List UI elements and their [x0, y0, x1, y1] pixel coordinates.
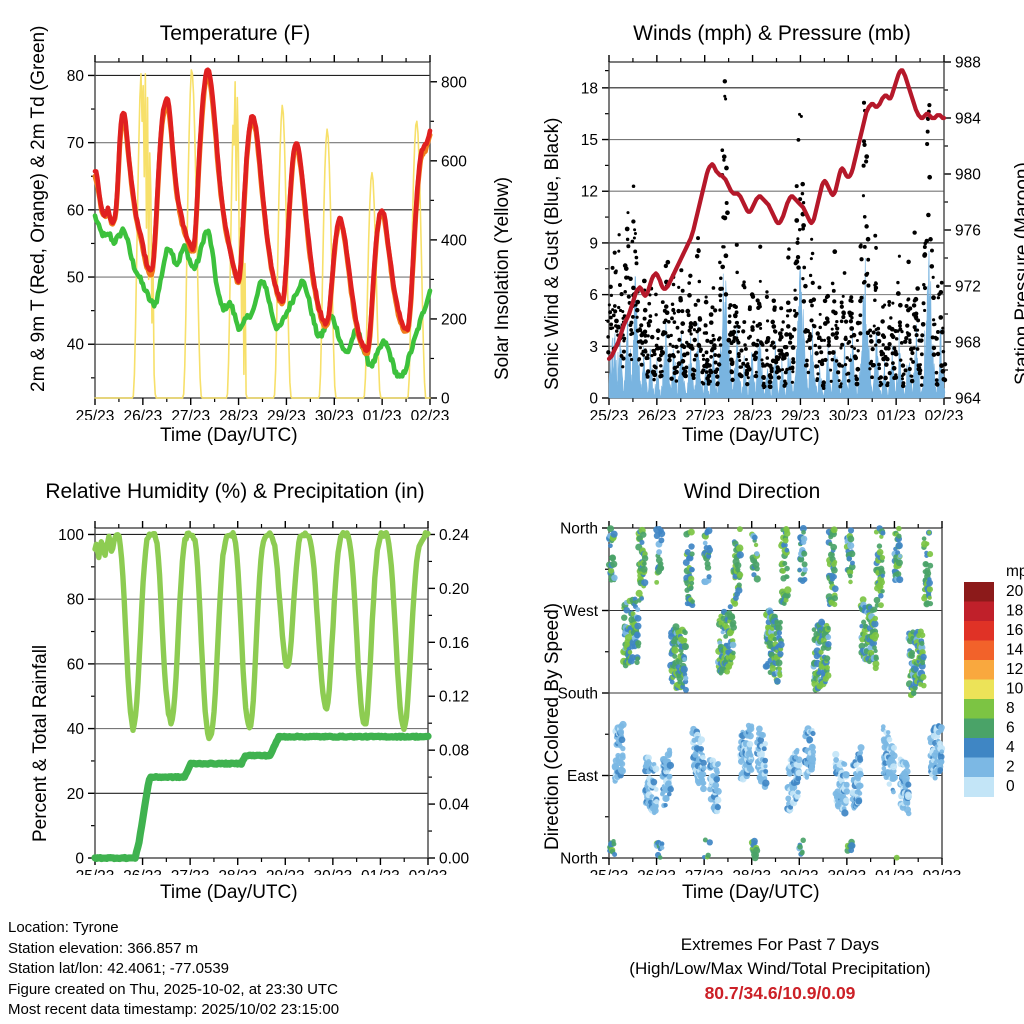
svg-text:East: East	[567, 768, 599, 785]
svg-text:South: South	[557, 686, 598, 703]
svg-text:984: 984	[955, 111, 981, 128]
svg-text:27/23: 27/23	[685, 868, 724, 875]
svg-text:20: 20	[67, 786, 85, 803]
svg-text:01/23: 01/23	[877, 408, 916, 420]
svg-text:964: 964	[955, 391, 981, 408]
extremes-block: Extremes For Past 7 Days (High/Low/Max W…	[545, 933, 1015, 1005]
svg-text:North: North	[560, 521, 598, 538]
svg-text:30/23: 30/23	[827, 868, 866, 875]
svg-text:976: 976	[955, 223, 981, 240]
temperature-xlabel: Time (Day/UTC)	[160, 425, 298, 447]
svg-text:0.16: 0.16	[439, 635, 469, 652]
svg-text:26/23: 26/23	[637, 868, 676, 875]
svg-text:25/23: 25/23	[76, 408, 115, 420]
svg-text:968: 968	[955, 335, 981, 352]
svg-text:80: 80	[67, 592, 85, 609]
svg-text:8: 8	[1006, 700, 1015, 717]
svg-text:988: 988	[955, 55, 981, 72]
svg-text:25/23: 25/23	[76, 868, 115, 875]
station-metadata: Location: Tyrone Station elevation: 366.…	[8, 918, 339, 1021]
svg-text:100: 100	[58, 527, 84, 544]
meta-location: Location: Tyrone	[8, 918, 339, 939]
speed-colorbar: 20+181614121086420mph	[952, 560, 1024, 820]
humidity-plot: 0204060801000.000.040.080.120.160.200.24…	[0, 460, 512, 875]
svg-text:50: 50	[67, 270, 85, 287]
svg-text:30/23: 30/23	[829, 408, 868, 420]
svg-text:600: 600	[441, 153, 467, 170]
svg-text:980: 980	[955, 167, 981, 184]
svg-text:3: 3	[589, 339, 598, 356]
svg-text:400: 400	[441, 232, 467, 249]
svg-text:16: 16	[1006, 622, 1023, 639]
svg-text:80: 80	[67, 68, 85, 85]
svg-text:North: North	[560, 851, 598, 868]
svg-text:6: 6	[589, 287, 598, 304]
panel-humidity-precip: Relative Humidity (%) & Precipitation (i…	[0, 460, 512, 920]
svg-text:4: 4	[1006, 739, 1015, 756]
svg-text:26/23: 26/23	[123, 868, 162, 875]
svg-text:West: West	[563, 603, 599, 620]
svg-text:02/23: 02/23	[925, 408, 964, 420]
svg-text:18: 18	[1006, 603, 1023, 620]
svg-text:02/23: 02/23	[923, 868, 962, 875]
svg-text:12: 12	[1006, 661, 1023, 678]
svg-text:0: 0	[1006, 778, 1015, 795]
svg-text:29/23: 29/23	[781, 408, 820, 420]
svg-text:0.12: 0.12	[439, 689, 469, 706]
svg-text:0.20: 0.20	[439, 581, 470, 598]
temperature-plot: 4050607080020040060080025/2326/2327/2328…	[0, 0, 512, 420]
svg-text:18: 18	[581, 80, 598, 97]
svg-text:9: 9	[589, 235, 598, 252]
svg-text:14: 14	[1006, 642, 1024, 659]
panel-temperature: Temperature (F) 2m & 9m T (Red, Orange) …	[0, 0, 512, 460]
svg-text:60: 60	[67, 202, 85, 219]
svg-text:6: 6	[1006, 720, 1015, 737]
meta-latlon: Station lat/lon: 42.4061; -77.0539	[8, 959, 339, 980]
svg-text:0.08: 0.08	[439, 743, 469, 760]
svg-text:28/23: 28/23	[733, 408, 772, 420]
svg-text:70: 70	[67, 135, 85, 152]
svg-text:0.24: 0.24	[439, 527, 470, 544]
svg-text:0.00: 0.00	[439, 851, 470, 868]
humidity-xlabel: Time (Day/UTC)	[160, 882, 298, 904]
panel-winds-pressure: Winds (mph) & Pressure (mb) Sonic Wind &…	[512, 0, 1024, 460]
svg-text:28/23: 28/23	[732, 868, 771, 875]
svg-text:800: 800	[441, 74, 467, 91]
svg-text:0.04: 0.04	[439, 797, 470, 814]
panel-wind-direction: Wind Direction Direction (Colored By Spe…	[512, 460, 1024, 920]
svg-text:27/23: 27/23	[171, 868, 210, 875]
svg-text:40: 40	[67, 337, 85, 354]
svg-text:0: 0	[589, 391, 598, 408]
meta-timestamp: Most recent data timestamp: 2025/10/02 2…	[8, 1000, 339, 1021]
extremes-subheading: (High/Low/Max Wind/Total Precipitation)	[545, 957, 1015, 981]
svg-text:29/23: 29/23	[267, 408, 306, 420]
svg-text:10: 10	[1006, 681, 1024, 698]
meta-elevation: Station elevation: 366.857 m	[8, 939, 339, 960]
svg-text:29/23: 29/23	[780, 868, 819, 875]
svg-text:60: 60	[67, 656, 85, 673]
svg-text:29/23: 29/23	[266, 868, 305, 875]
svg-text:200: 200	[441, 311, 467, 328]
svg-text:25/23: 25/23	[590, 868, 629, 875]
svg-text:mph: mph	[1006, 563, 1024, 580]
svg-text:27/23: 27/23	[685, 408, 724, 420]
svg-text:27/23: 27/23	[171, 408, 210, 420]
svg-text:01/23: 01/23	[875, 868, 914, 875]
svg-text:28/23: 28/23	[218, 868, 257, 875]
weather-dashboard: Temperature (F) 2m & 9m T (Red, Orange) …	[0, 0, 1024, 1024]
svg-text:01/23: 01/23	[361, 868, 400, 875]
svg-text:26/23: 26/23	[637, 408, 676, 420]
svg-text:12: 12	[581, 184, 598, 201]
svg-text:26/23: 26/23	[123, 408, 162, 420]
svg-text:30/23: 30/23	[315, 408, 354, 420]
svg-text:0: 0	[441, 391, 450, 408]
svg-text:2: 2	[1006, 759, 1015, 776]
svg-text:01/23: 01/23	[363, 408, 402, 420]
svg-text:25/23: 25/23	[590, 408, 629, 420]
meta-created: Figure created on Thu, 2025-10-02, at 23…	[8, 980, 339, 1001]
svg-text:972: 972	[955, 279, 981, 296]
svg-text:30/23: 30/23	[313, 868, 352, 875]
winds-plot: 036912151896496897297698098498825/2326/2…	[512, 0, 1024, 420]
svg-text:28/23: 28/23	[219, 408, 258, 420]
svg-text:02/23: 02/23	[409, 868, 448, 875]
svg-text:40: 40	[67, 721, 85, 738]
svg-text:15: 15	[581, 132, 598, 149]
svg-text:20+: 20+	[1006, 583, 1024, 600]
extremes-values: 80.7/34.6/10.9/0.09	[545, 981, 1015, 1005]
svg-text:02/23: 02/23	[411, 408, 450, 420]
wind-direction-xlabel: Time (Day/UTC)	[682, 882, 820, 904]
extremes-heading: Extremes For Past 7 Days	[545, 933, 1015, 957]
wind-direction-plot: NorthWestSouthEastNorth25/2326/2327/2328…	[512, 460, 1024, 875]
winds-xlabel: Time (Day/UTC)	[682, 425, 820, 447]
svg-text:0: 0	[75, 851, 84, 868]
